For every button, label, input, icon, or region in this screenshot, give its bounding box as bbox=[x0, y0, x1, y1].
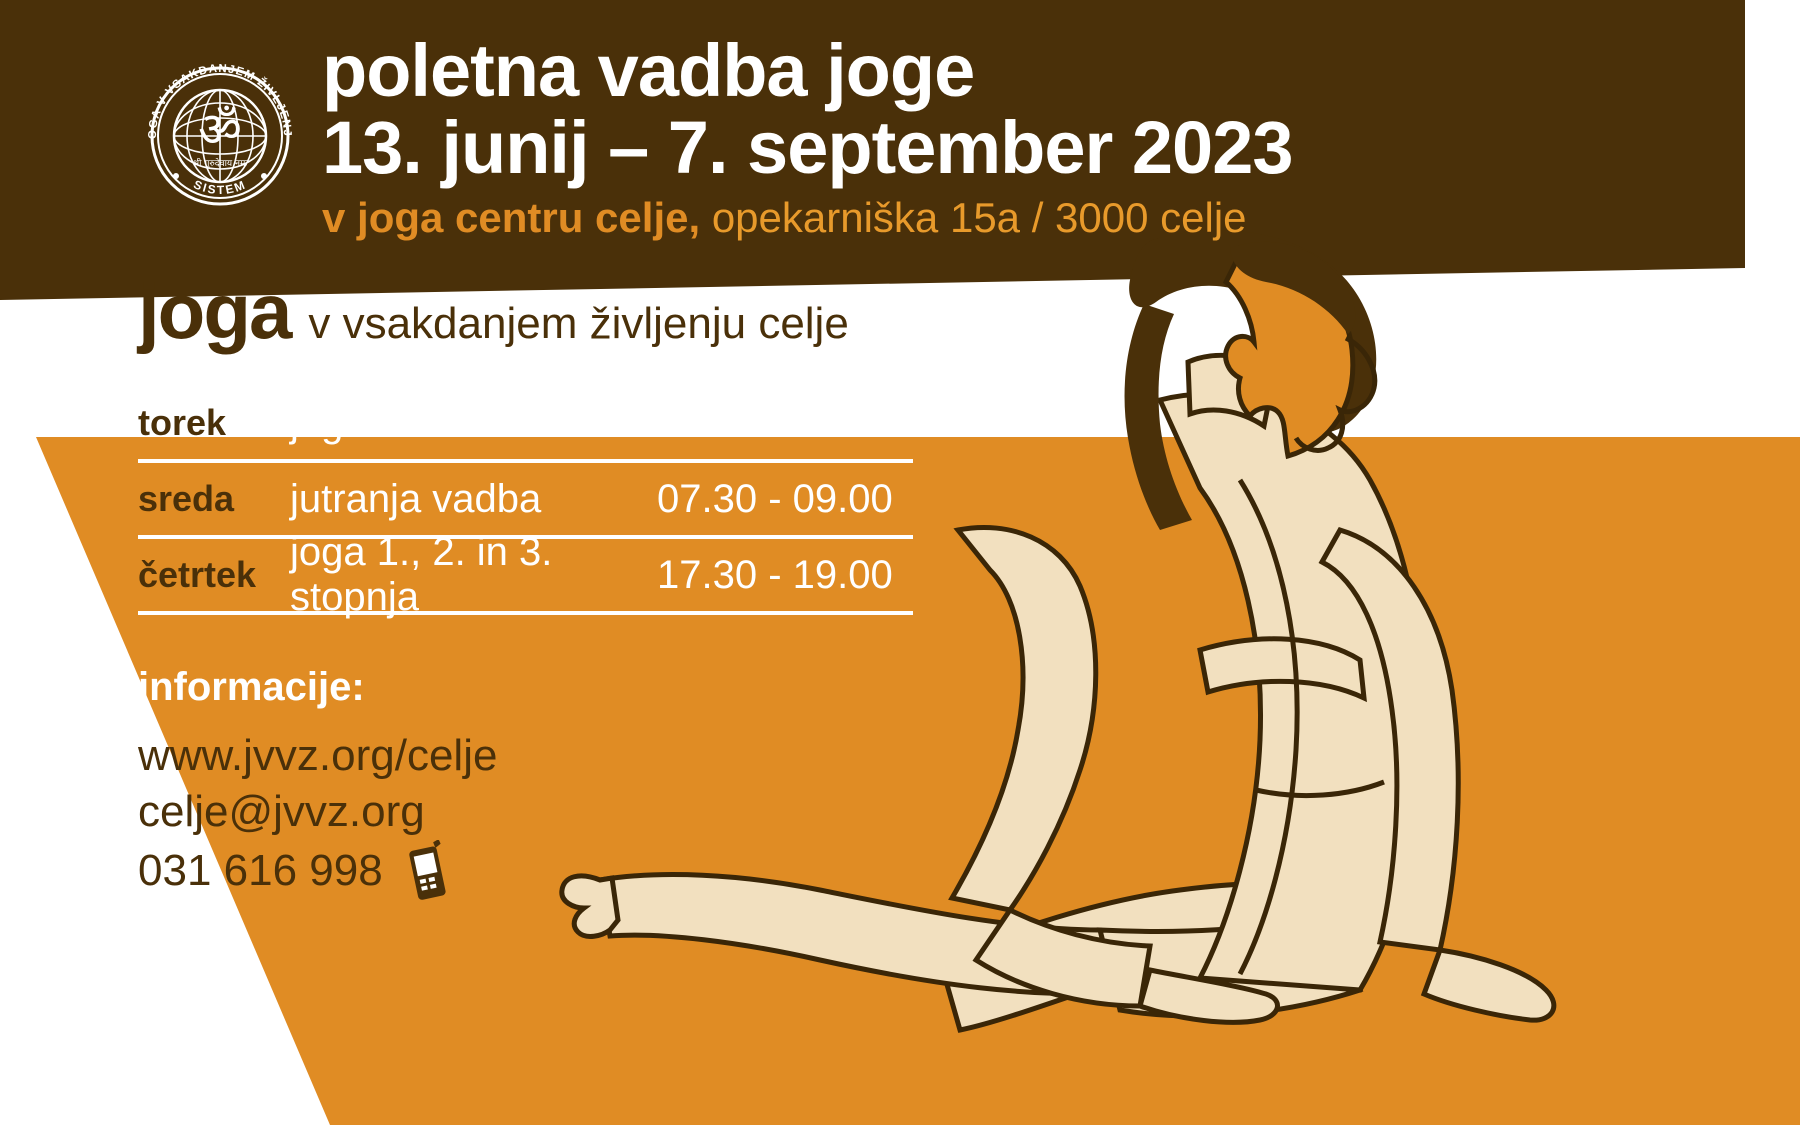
schedule-day: četrtek bbox=[138, 554, 290, 596]
brand-word: joga bbox=[138, 272, 290, 350]
header-text-block: poletna vadba joge 13. junij – 7. septem… bbox=[322, 34, 1582, 242]
schedule-day: torek bbox=[138, 402, 290, 444]
brand-headline: joga v vsakdanjem življenju celje bbox=[138, 272, 849, 350]
schedule-class: joga 1., 2. in 3. stopnja bbox=[290, 530, 657, 620]
venue-address: opekarniška 15a / 3000 celje bbox=[700, 194, 1246, 241]
contact-website-line[interactable]: www.jvvz.org/celje bbox=[138, 728, 758, 784]
schedule-time: 17.30 - 19.00 bbox=[657, 553, 913, 598]
contact-phone-line: 031 616 998 bbox=[138, 840, 758, 902]
poster-title: poletna vadba joge bbox=[322, 34, 1582, 108]
contact-website[interactable]: www.jvvz.org/celje bbox=[138, 728, 497, 784]
jvvz-logo: ॐ श्री गुरुदेवाय नमः JOGA V VSAKDANJEM Ž… bbox=[140, 58, 300, 208]
schedule-day: sreda bbox=[138, 478, 290, 520]
svg-text:श्री गुरुदेवाय नमः: श्री गुरुदेवाय नमः bbox=[193, 157, 248, 169]
poster-daterange: 13. junij – 7. september 2023 bbox=[322, 108, 1582, 188]
poster-root: ॐ श्री गुरुदेवाय नमः JOGA V VSAKDANJEM Ž… bbox=[0, 0, 1800, 1125]
table-row: sreda jutranja vadba 07.30 - 09.00 bbox=[138, 463, 913, 535]
contact-email[interactable]: celje@jvvz.org bbox=[138, 784, 425, 840]
mobile-phone-icon bbox=[405, 840, 451, 902]
poster-venue-line: v joga centru celje, opekarniška 15a / 3… bbox=[322, 194, 1582, 242]
contact-email-line[interactable]: celje@jvvz.org bbox=[138, 784, 758, 840]
schedule-time: 17.30 - 19.00 bbox=[657, 401, 913, 446]
svg-text:ॐ: ॐ bbox=[198, 102, 242, 158]
schedule-table: torek joga za hrbtenico 17.30 - 19.00 sr… bbox=[138, 383, 913, 615]
brand-subtitle: v vsakdanjem življenju celje bbox=[308, 302, 848, 346]
schedule-time: 07.30 - 09.00 bbox=[657, 477, 913, 522]
table-row: četrtek joga 1., 2. in 3. stopnja 17.30 … bbox=[138, 539, 913, 611]
table-row: torek joga za hrbtenico 17.30 - 19.00 bbox=[138, 387, 913, 459]
schedule-class: jutranja vadba bbox=[290, 477, 657, 522]
venue-name: v joga centru celje, bbox=[322, 194, 700, 241]
schedule-class: joga za hrbtenico bbox=[290, 401, 657, 446]
info-heading: informacije: bbox=[138, 665, 758, 710]
contact-phone: 031 616 998 bbox=[138, 843, 383, 899]
contact-info-block: informacije: www.jvvz.org/celje celje@jv… bbox=[138, 665, 758, 902]
